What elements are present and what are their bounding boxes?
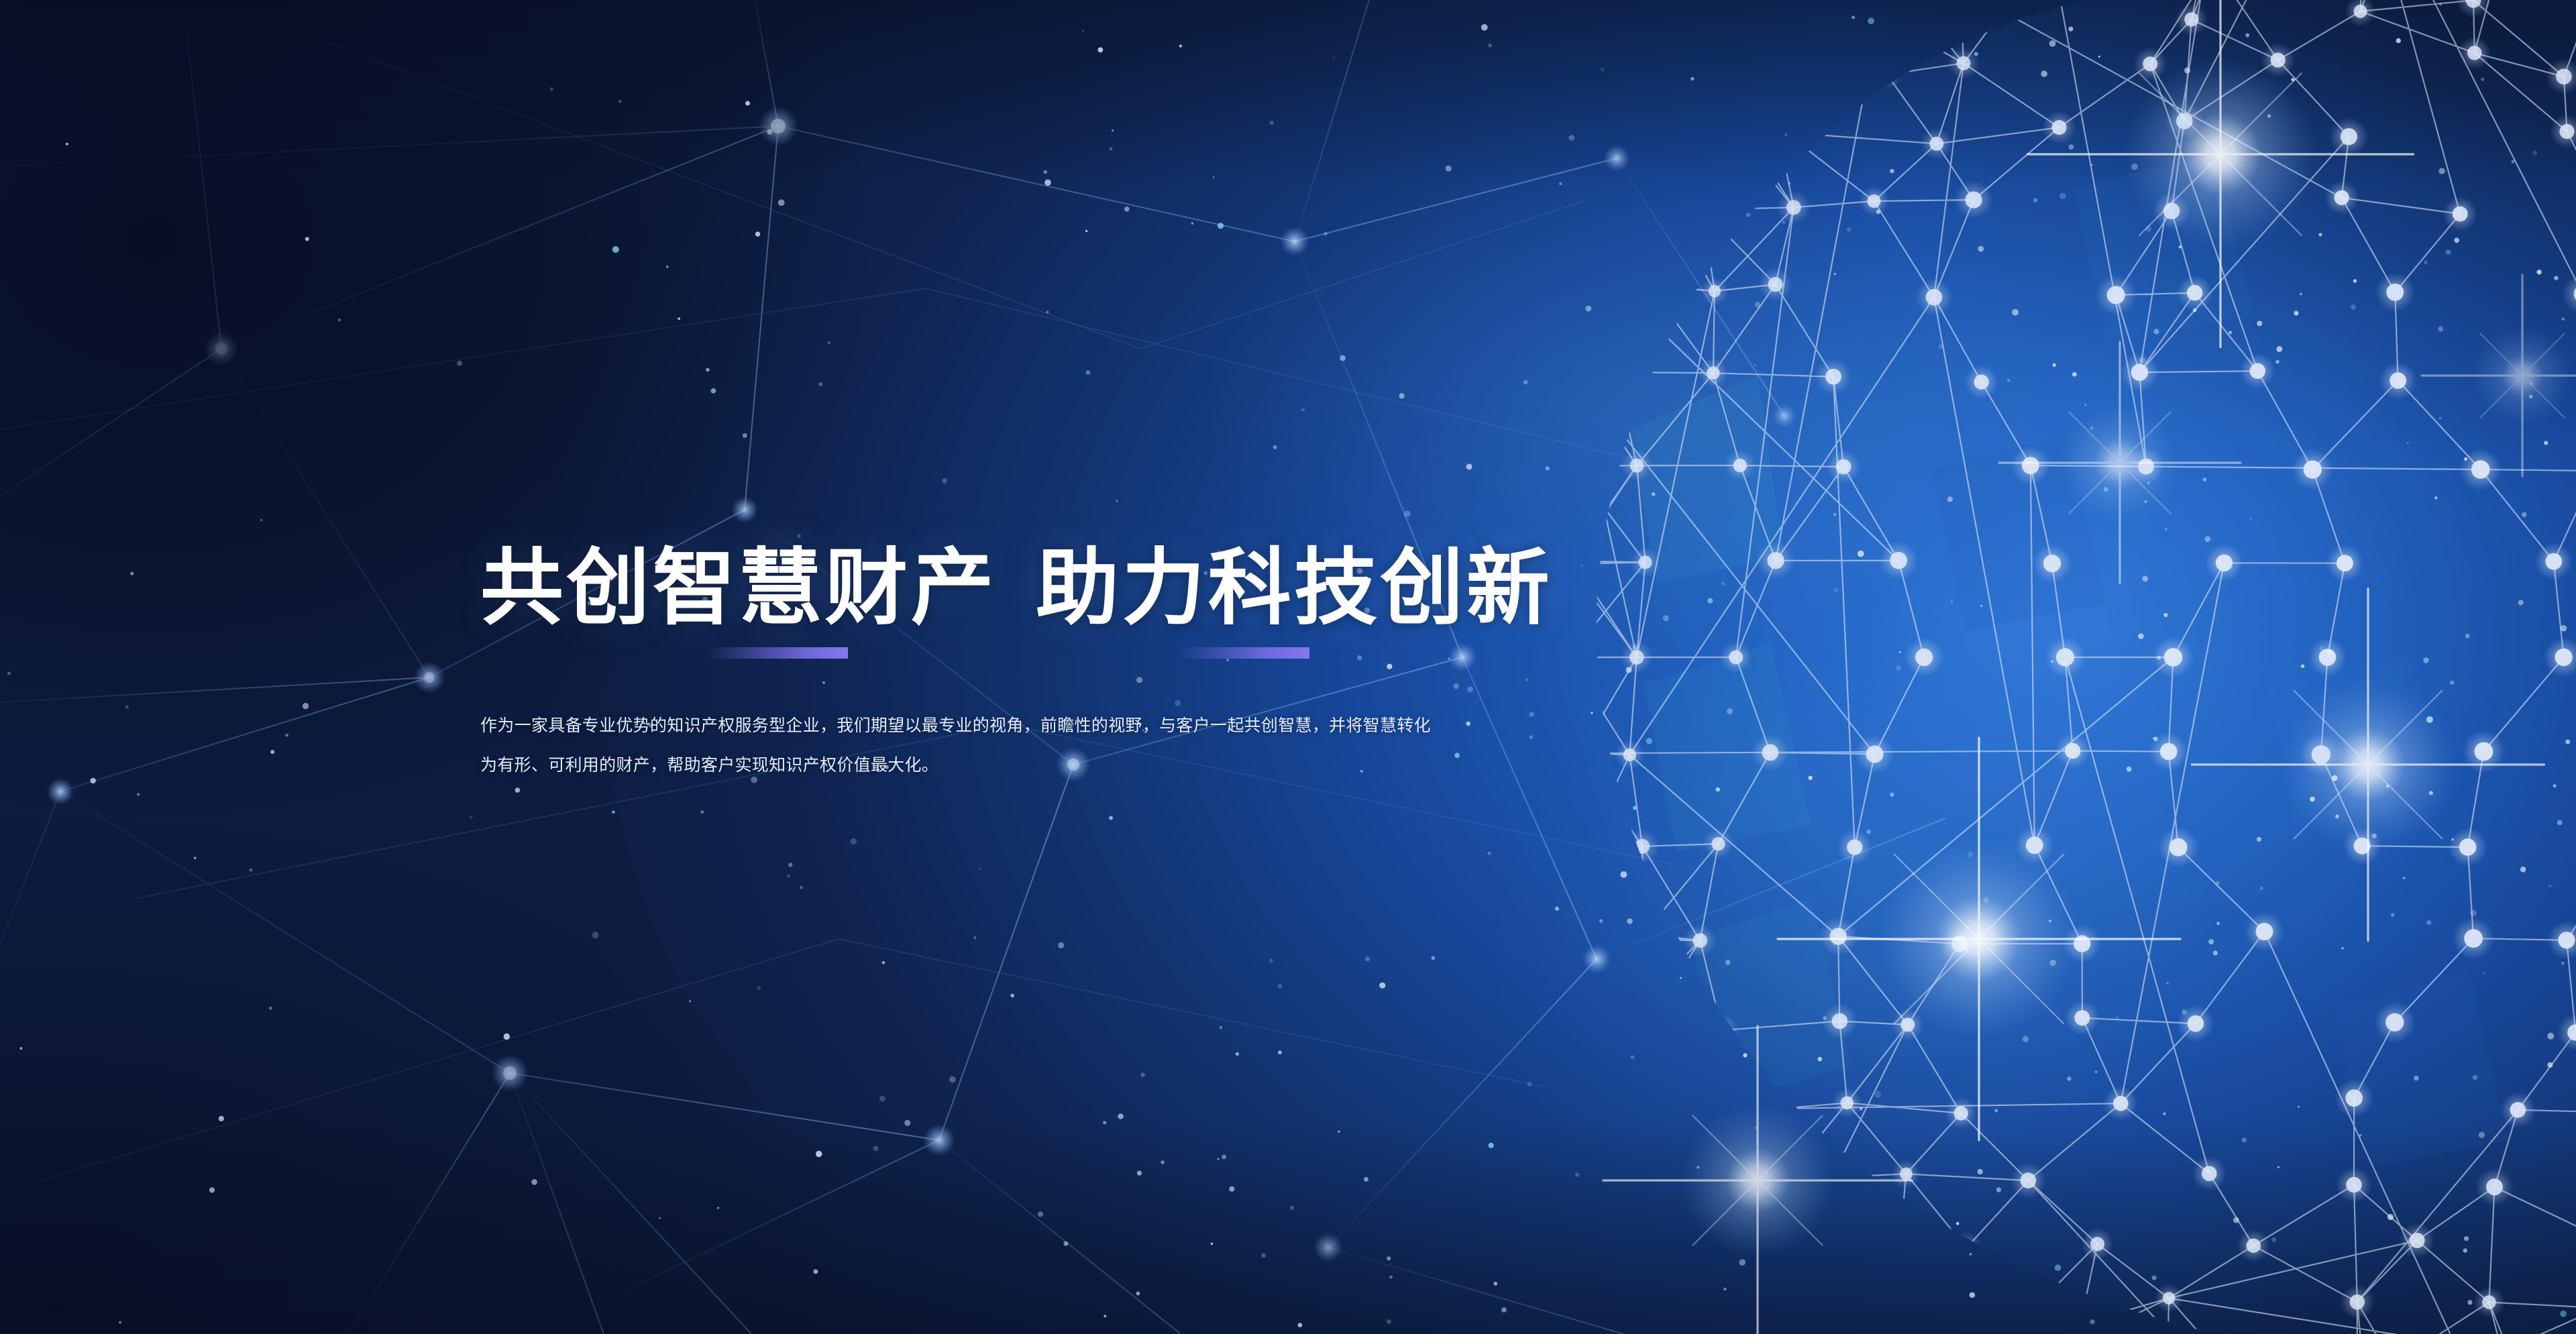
hero-banner: 共创智慧财产助力科技创新 作为一家具备专业优势的知识产权服务型企业，我们期望以最… [0,0,2576,1334]
headline-phrase-2: 助力科技创新 [1036,540,1552,636]
hero-copy-block: 共创智慧财产助力科技创新 作为一家具备专业优势的知识产权服务型企业，我们期望以最… [480,545,1460,785]
accent-rule-group [480,636,1460,667]
page-title: 共创智慧财产助力科技创新 [480,545,1460,632]
hero-description: 作为一家具备专业优势的知识产权服务型企业，我们期望以最专业的视角，前瞻性的视野，… [480,706,1433,785]
accent-rule-right [1178,647,1309,659]
headline-phrase-1: 共创智慧财产 [480,540,997,636]
accent-rule-left [706,647,848,659]
